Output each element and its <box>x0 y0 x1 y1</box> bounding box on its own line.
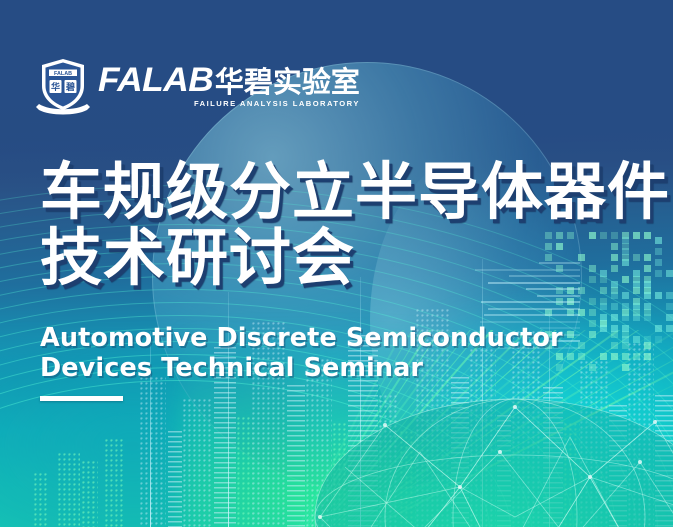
falab-shield-crest-icon: FALAB 华 碧 <box>36 56 90 116</box>
seminar-poster: FALAB 华 碧 FALAB 华碧实验室 FAILURE ANALYSIS L… <box>0 0 673 527</box>
falab-logo[interactable]: FALAB 华 碧 FALAB 华碧实验室 FAILURE ANALYSIS L… <box>36 56 360 116</box>
falab-wordmark: FALAB 华碧实验室 FAILURE ANALYSIS LABORATORY <box>98 64 360 108</box>
title-divider-rule <box>40 396 123 401</box>
svg-text:FALAB: FALAB <box>54 71 72 77</box>
subtitle-line-1: Automotive Discrete Semiconductor <box>40 323 563 353</box>
falab-tagline: FAILURE ANALYSIS LABORATORY <box>98 99 360 108</box>
page-title: 车规级分立半导体器件 技术研讨会 <box>40 160 670 290</box>
falab-wordmark-chinese: 华碧实验室 <box>215 68 360 97</box>
page-subtitle: Automotive Discrete Semiconductor Device… <box>40 323 563 383</box>
falab-wordmark-latin: FALAB <box>98 64 213 97</box>
subtitle-line-2: Devices Technical Seminar <box>40 353 563 383</box>
svg-text:华: 华 <box>51 81 60 93</box>
svg-text:碧: 碧 <box>65 81 75 93</box>
headline-line-2: 技术研讨会 <box>40 226 670 290</box>
headline-line-1: 车规级分立半导体器件 <box>40 160 670 224</box>
low-poly-wireframe-globe-icon <box>300 367 673 527</box>
